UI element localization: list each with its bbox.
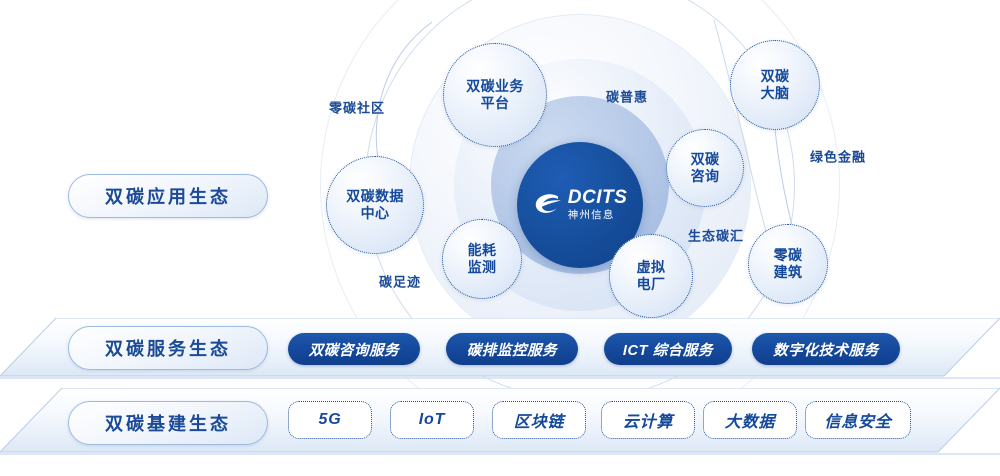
- layer-chip-service[interactable]: 双碳服务生态: [68, 326, 268, 370]
- bubble-consulting-label: 双碳咨询: [687, 151, 724, 184]
- bubble-data-center[interactable]: 双碳数据中心: [326, 156, 424, 254]
- dcits-logo: DCITS 神州信息: [533, 188, 628, 221]
- layer-chip-application[interactable]: 双碳应用生态: [68, 174, 268, 218]
- service-pill-consulting-service[interactable]: 双碳咨询服务: [288, 333, 420, 365]
- label-carbon-footprint: 碳足迹: [379, 272, 421, 291]
- bubble-zero-carbon-building-label: 零碳建筑: [770, 247, 807, 280]
- bubble-energy-monitor-label: 能耗监测: [464, 242, 501, 275]
- logo-chinese-name: 神州信息: [568, 210, 615, 221]
- bubble-brain-label: 双碳大脑: [757, 68, 794, 101]
- label-zero-carbon-community: 零碳社区: [329, 98, 385, 117]
- infra-chip-security[interactable]: 信息安全: [805, 401, 911, 439]
- bubble-zero-carbon-building[interactable]: 零碳建筑: [748, 224, 828, 304]
- bubble-energy-monitor[interactable]: 能耗监测: [442, 219, 522, 299]
- bubble-virtual-plant-label: 虚拟电厂: [633, 259, 670, 292]
- ecosystem-diagram: DCITS 神州信息 双碳业务平台双碳数据中心双碳大脑双碳咨询能耗监测虚拟电厂零…: [0, 0, 1000, 476]
- layer-chip-infrastructure-label: 双碳基建生态: [105, 410, 231, 436]
- logo-wordmark: DCITS: [568, 188, 628, 207]
- service-pill-emission-monitor-service[interactable]: 碳排监控服务: [446, 333, 578, 365]
- infra-chip-iot[interactable]: IoT: [390, 401, 474, 439]
- layer-chip-infrastructure[interactable]: 双碳基建生态: [68, 401, 268, 445]
- infra-chip-5g[interactable]: 5G: [288, 401, 372, 439]
- bubble-data-center-label: 双碳数据中心: [342, 188, 408, 221]
- service-pill-digital-tech-service[interactable]: 数字化技术服务: [752, 333, 900, 365]
- layer-chip-service-label: 双碳服务生态: [105, 335, 231, 361]
- bubble-biz-platform-label: 双碳业务平台: [462, 78, 528, 111]
- swoosh-e-icon: [533, 192, 563, 216]
- infra-chip-bigdata[interactable]: 大数据: [703, 401, 797, 439]
- bubble-brain[interactable]: 双碳大脑: [730, 40, 820, 130]
- label-green-finance: 绿色金融: [810, 147, 866, 166]
- service-pill-ict-service[interactable]: ICT 综合服务: [604, 333, 732, 365]
- layer-chip-application-label: 双碳应用生态: [105, 183, 231, 209]
- label-carbon-inclusion: 碳普惠: [606, 87, 648, 106]
- infra-chip-blockchain[interactable]: 区块链: [492, 401, 586, 439]
- bubble-consulting[interactable]: 双碳咨询: [666, 129, 744, 207]
- bubble-virtual-plant[interactable]: 虚拟电厂: [609, 234, 693, 318]
- infra-chip-cloud[interactable]: 云计算: [601, 401, 695, 439]
- bubble-biz-platform[interactable]: 双碳业务平台: [443, 43, 547, 147]
- label-eco-carbon-sink: 生态碳汇: [688, 226, 744, 245]
